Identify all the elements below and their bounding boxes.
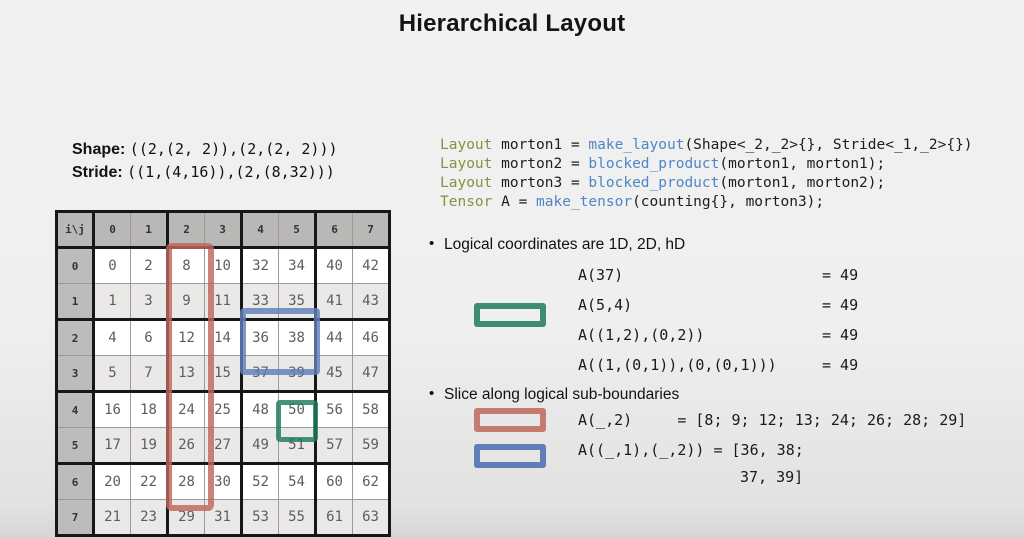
table-cell: 35 bbox=[279, 284, 316, 320]
stride-label: Stride: bbox=[72, 164, 123, 181]
table-cell: 55 bbox=[279, 500, 316, 536]
table-cell: 48 bbox=[242, 392, 279, 428]
code-keyword: Layout bbox=[440, 137, 492, 153]
table-cell: 61 bbox=[316, 500, 353, 536]
green-swatch-icon bbox=[474, 303, 546, 327]
table-row: 41618242548505658 bbox=[57, 392, 390, 428]
table-cell: 43 bbox=[353, 284, 390, 320]
bullet-slice-sub-boundaries: Slice along logical sub-boundaries bbox=[428, 386, 679, 404]
coord-example-lhs-0: A(37) bbox=[578, 266, 623, 284]
table-row: 51719262749515759 bbox=[57, 428, 390, 464]
table-column-header: 4 bbox=[242, 212, 279, 248]
table-cell: 49 bbox=[242, 428, 279, 464]
table-cell: 8 bbox=[168, 248, 205, 284]
table-cell: 50 bbox=[279, 392, 316, 428]
page-title: Hierarchical Layout bbox=[0, 10, 1024, 38]
coord-example-lhs-3: A((1,(0,1)),(0,(0,1))) bbox=[578, 356, 777, 374]
table-cell: 16 bbox=[94, 392, 131, 428]
table-cell: 62 bbox=[353, 464, 390, 500]
table-row: 357131537394547 bbox=[57, 356, 390, 392]
code-function-name: blocked_product bbox=[588, 156, 719, 172]
table-cell: 41 bbox=[316, 284, 353, 320]
slice-example-line-2-continuation: 37, 39] bbox=[740, 468, 803, 486]
table-cell: 33 bbox=[242, 284, 279, 320]
table-cell: 36 bbox=[242, 320, 279, 356]
code-line: Layout morton2 = blocked_product(morton1… bbox=[440, 155, 973, 174]
table-row-header: 2 bbox=[57, 320, 94, 356]
table-column-header: 0 bbox=[94, 212, 131, 248]
table-cell: 47 bbox=[353, 356, 390, 392]
table-row-header: 3 bbox=[57, 356, 94, 392]
code-line: Layout morton3 = blocked_product(morton1… bbox=[440, 174, 973, 193]
table-cell: 7 bbox=[131, 356, 168, 392]
table-cell: 24 bbox=[168, 392, 205, 428]
bullet-logical-coordinates: Logical coordinates are 1D, 2D, hD bbox=[428, 236, 685, 254]
table-cell: 39 bbox=[279, 356, 316, 392]
table-row-header: 6 bbox=[57, 464, 94, 500]
table-cell: 46 bbox=[353, 320, 390, 356]
slide-canvas: Hierarchical Layout Shape: ((2,(2, 2)),(… bbox=[0, 0, 1024, 538]
table-column-header: 2 bbox=[168, 212, 205, 248]
table-row-header: 5 bbox=[57, 428, 94, 464]
table-row-header: 0 bbox=[57, 248, 94, 284]
table-column-header: 3 bbox=[205, 212, 242, 248]
code-args: (counting{}, morton3); bbox=[632, 194, 824, 210]
code-keyword: Layout bbox=[440, 156, 492, 172]
table-cell: 27 bbox=[205, 428, 242, 464]
table-cell: 44 bbox=[316, 320, 353, 356]
table-column-header: 5 bbox=[279, 212, 316, 248]
table-row: 246121436384446 bbox=[57, 320, 390, 356]
code-function-name: blocked_product bbox=[588, 175, 719, 191]
shape-value: ((2,(2, 2)),(2,(2, 2))) bbox=[130, 140, 338, 158]
code-text: morton3 = bbox=[492, 175, 588, 191]
red-swatch-icon bbox=[474, 408, 546, 432]
table-header-row: i\j01234567 bbox=[57, 212, 390, 248]
table-row-header: 4 bbox=[57, 392, 94, 428]
table-cell: 38 bbox=[279, 320, 316, 356]
table-cell: 14 bbox=[205, 320, 242, 356]
table-column-header: 7 bbox=[353, 212, 390, 248]
stride-value: ((1,(4,16)),(2,(8,32))) bbox=[127, 163, 335, 181]
code-keyword: Layout bbox=[440, 175, 492, 191]
table-row: 72123293153556163 bbox=[57, 500, 390, 536]
table-row: 62022283052546062 bbox=[57, 464, 390, 500]
table-cell: 54 bbox=[279, 464, 316, 500]
code-line: Layout morton1 = make_layout(Shape<_2,_2… bbox=[440, 136, 973, 155]
coord-example-rhs-1: = 49 bbox=[822, 296, 858, 314]
coord-example-rhs-2: = 49 bbox=[822, 326, 858, 344]
table-cell: 29 bbox=[168, 500, 205, 536]
table-cell: 59 bbox=[353, 428, 390, 464]
table-cell: 21 bbox=[94, 500, 131, 536]
table-column-header: 6 bbox=[316, 212, 353, 248]
table-cell: 4 bbox=[94, 320, 131, 356]
code-text: morton1 = bbox=[492, 137, 588, 153]
code-text: A = bbox=[492, 194, 536, 210]
table-row-header: 7 bbox=[57, 500, 94, 536]
table-corner-label: i\j bbox=[57, 212, 94, 248]
table-cell: 30 bbox=[205, 464, 242, 500]
table-cell: 51 bbox=[279, 428, 316, 464]
code-args: (morton1, morton2); bbox=[719, 175, 885, 191]
table-row: 11391133354143 bbox=[57, 284, 390, 320]
table-cell: 58 bbox=[353, 392, 390, 428]
code-function-name: make_tensor bbox=[536, 194, 632, 210]
table-cell: 19 bbox=[131, 428, 168, 464]
table-cell: 15 bbox=[205, 356, 242, 392]
table-cell: 5 bbox=[94, 356, 131, 392]
table-cell: 0 bbox=[94, 248, 131, 284]
stride-row: Stride: ((1,(4,16)),(2,(8,32))) bbox=[72, 163, 335, 182]
table-cell: 37 bbox=[242, 356, 279, 392]
slice-example-line-2: A((_,1),(_,2)) = [36, 38; bbox=[578, 441, 804, 459]
table-cell: 32 bbox=[242, 248, 279, 284]
shape-row: Shape: ((2,(2, 2)),(2,(2, 2))) bbox=[72, 140, 338, 159]
table-column-header: 1 bbox=[131, 212, 168, 248]
slice-example-line-1: A(_,2) = [8; 9; 12; 13; 24; 26; 28; 29] bbox=[578, 411, 966, 429]
layout-table: i\j0123456700281032344042113911333541432… bbox=[55, 210, 391, 537]
table-cell: 1 bbox=[94, 284, 131, 320]
table-row: 00281032344042 bbox=[57, 248, 390, 284]
table-cell: 60 bbox=[316, 464, 353, 500]
table-row-header: 1 bbox=[57, 284, 94, 320]
table-cell: 12 bbox=[168, 320, 205, 356]
table-cell: 10 bbox=[205, 248, 242, 284]
table-cell: 31 bbox=[205, 500, 242, 536]
table-cell: 34 bbox=[279, 248, 316, 284]
table-cell: 17 bbox=[94, 428, 131, 464]
coord-example-lhs-2: A((1,2),(0,2)) bbox=[578, 326, 704, 344]
table-cell: 9 bbox=[168, 284, 205, 320]
table-cell: 52 bbox=[242, 464, 279, 500]
table-cell: 23 bbox=[131, 500, 168, 536]
code-args: (morton1, morton1); bbox=[719, 156, 885, 172]
table-cell: 56 bbox=[316, 392, 353, 428]
table-cell: 42 bbox=[353, 248, 390, 284]
table-cell: 6 bbox=[131, 320, 168, 356]
shape-label: Shape: bbox=[72, 141, 125, 158]
table-cell: 25 bbox=[205, 392, 242, 428]
table-cell: 11 bbox=[205, 284, 242, 320]
table-cell: 18 bbox=[131, 392, 168, 428]
table-cell: 2 bbox=[131, 248, 168, 284]
coord-example-rhs-3: = 49 bbox=[822, 356, 858, 374]
code-keyword: Tensor bbox=[440, 194, 492, 210]
table-cell: 20 bbox=[94, 464, 131, 500]
table-cell: 40 bbox=[316, 248, 353, 284]
table-cell: 26 bbox=[168, 428, 205, 464]
layout-table-wrap: i\j0123456700281032344042113911333541432… bbox=[55, 210, 391, 537]
code-function-name: make_layout bbox=[588, 137, 684, 153]
table-cell: 3 bbox=[131, 284, 168, 320]
coord-example-rhs-0: = 49 bbox=[822, 266, 858, 284]
table-cell: 28 bbox=[168, 464, 205, 500]
table-cell: 57 bbox=[316, 428, 353, 464]
code-block: Layout morton1 = make_layout(Shape<_2,_2… bbox=[440, 136, 973, 212]
blue-swatch-icon bbox=[474, 444, 546, 468]
code-text: morton2 = bbox=[492, 156, 588, 172]
code-line: Tensor A = make_tensor(counting{}, morto… bbox=[440, 193, 973, 212]
coord-example-lhs-1: A(5,4) bbox=[578, 296, 632, 314]
table-cell: 53 bbox=[242, 500, 279, 536]
table-cell: 45 bbox=[316, 356, 353, 392]
table-cell: 13 bbox=[168, 356, 205, 392]
code-args: (Shape<_2,_2>{}, Stride<_1,_2>{}) bbox=[684, 137, 972, 153]
table-cell: 22 bbox=[131, 464, 168, 500]
table-cell: 63 bbox=[353, 500, 390, 536]
